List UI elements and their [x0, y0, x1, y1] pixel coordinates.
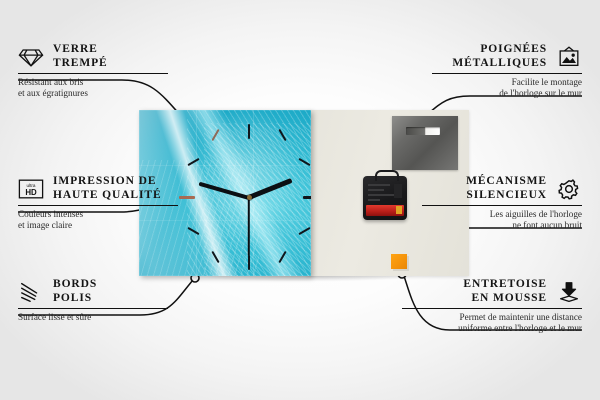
- feature-description: Couleurs intenses et image claire: [18, 209, 178, 231]
- feature-title: ENTRETOISE EN MOUSSE: [402, 278, 547, 305]
- feature-description: Résistant aux bris et aux égratignures: [18, 77, 168, 99]
- feature-title: VERRE TREMPÉ: [53, 43, 108, 70]
- divider: [18, 73, 168, 74]
- feature-description: Permet de maintenir une distance uniform…: [402, 312, 582, 334]
- clock-center-cap: [247, 195, 252, 200]
- picture-hanger-icon: [556, 44, 582, 70]
- feature-title: POIGNÉES MÉTALLIQUES: [432, 43, 547, 70]
- feature-title: BORDS POLIS: [53, 278, 97, 305]
- mechanism-detail: [368, 184, 390, 186]
- second-hand: [248, 197, 250, 255]
- hour-marker: [303, 196, 311, 199]
- mechanism-detail: [368, 194, 394, 196]
- mechanism-hook: [375, 170, 399, 181]
- diamond-icon: [18, 44, 44, 70]
- divider: [18, 308, 168, 309]
- gear-icon: [556, 176, 582, 202]
- feature-title: IMPRESSION DE HAUTE QUALITÉ: [53, 175, 162, 202]
- callout-impression-haute-qualite: ultra HD IMPRESSION DE HAUTE QUALITÉ Cou…: [18, 175, 178, 231]
- feature-title: MÉCANISME SILENCIEUX: [422, 175, 547, 202]
- metal-hanger-plate: [392, 116, 458, 170]
- divider: [18, 205, 178, 206]
- mechanism-detail: [368, 199, 380, 201]
- callout-entretoise-en-mousse: ENTRETOISE EN MOUSSE Permet de maintenir…: [402, 278, 582, 334]
- ultra-hd-icon: ultra HD: [18, 176, 44, 202]
- polished-edges-icon: [18, 279, 44, 305]
- battery-terminal: [396, 206, 402, 214]
- foam-spacer: [391, 254, 407, 269]
- battery: [366, 205, 404, 216]
- mechanism-detail: [394, 184, 402, 198]
- divider: [402, 308, 582, 309]
- callout-mecanisme-silencieux: MÉCANISME SILENCIEUX Les aiguilles de l'…: [422, 175, 582, 231]
- product-photo: [139, 110, 469, 276]
- hanger-slot: [406, 127, 440, 135]
- hour-marker: [179, 196, 195, 199]
- divider: [422, 205, 582, 206]
- hour-marker: [248, 255, 250, 270]
- arrow-down-pad-icon: [556, 279, 582, 305]
- callout-verre-trempe: VERRE TREMPÉ Résistant aux bris et aux é…: [18, 43, 168, 99]
- mechanism-detail: [368, 189, 384, 191]
- callout-bords-polis: BORDS POLIS Surface lisse et sûre: [18, 278, 168, 323]
- svg-text:HD: HD: [25, 188, 37, 197]
- feature-description: Surface lisse et sûre: [18, 312, 168, 323]
- divider: [432, 73, 582, 74]
- callout-poignees-metalliques: POIGNÉES MÉTALLIQUES Facilite le montage…: [432, 43, 582, 99]
- feature-description: Facilite le montage de l'horloge sur le …: [432, 77, 582, 99]
- clock-mechanism: [363, 176, 407, 220]
- feature-description: Les aiguilles de l'horloge ne font aucun…: [422, 209, 582, 231]
- infographic-canvas: VERRE TREMPÉ Résistant aux bris et aux é…: [0, 0, 600, 400]
- hour-marker: [248, 124, 250, 139]
